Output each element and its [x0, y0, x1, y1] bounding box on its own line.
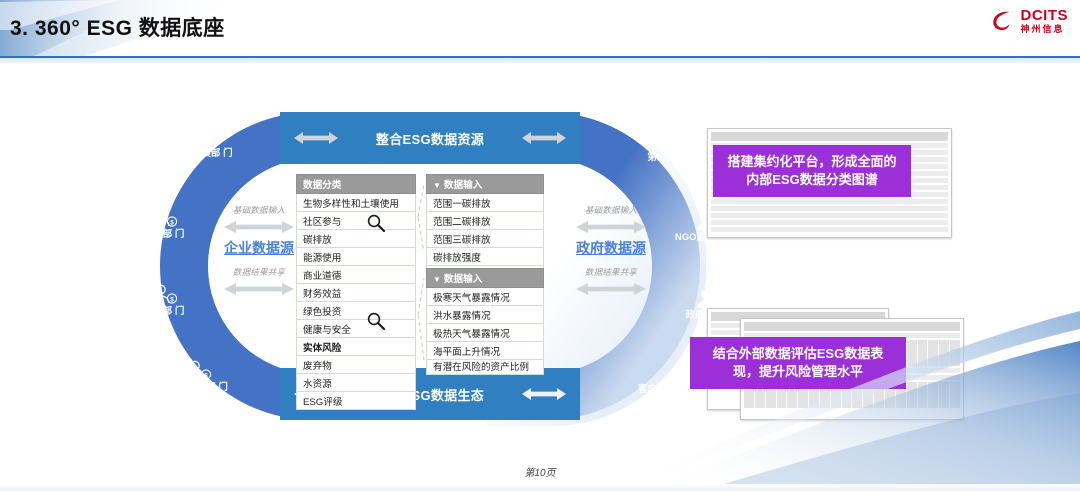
table-row: 极寒天气暴露情况: [427, 288, 544, 306]
person-icon: [693, 288, 719, 310]
node-sublabel: 门: [175, 306, 185, 317]
table-row: 范围三碳排放: [427, 230, 544, 248]
ghost-row: [711, 227, 948, 232]
dcits-swirl-icon: [990, 8, 1016, 34]
node-sublabel: 门: [223, 148, 233, 159]
slide: 3. 360° ESG 数据底座 DCITS 神州信息 整合ESG数据资源: [0, 0, 1080, 491]
person-icon: [669, 130, 695, 152]
node-sustainability-department: $ 可持续发展部 门: [152, 126, 244, 160]
callout-external-data-assessment: 结合外部数据评估ESG数据表现，提升风险管理水平: [690, 337, 906, 389]
page-title: 3. 360° ESG 数据底座: [10, 12, 225, 42]
table-row: 海平面上升情况: [427, 342, 544, 360]
ghost-row: [711, 213, 948, 218]
top-bar-integrate-resources: 整合ESG数据资源: [280, 112, 580, 164]
double-arrow-icon: [574, 282, 648, 296]
esg-data-foundation-diagram: 整合ESG数据资源 形成ESG数据生态 $ 可持续发展部 门: [160, 112, 700, 420]
double-arrow-icon: [222, 282, 296, 296]
ghost-row: [711, 199, 948, 204]
government-data-source-title: 政府数据源: [552, 238, 670, 258]
node-public-affairs-department: $ 公共事务部 门: [152, 360, 244, 394]
double-arrow-icon: [520, 130, 568, 146]
node-risk-department: $ 风险部 门: [118, 207, 210, 241]
table-row: 范围一碳排放: [427, 194, 544, 212]
government-data-source-group: 基础数据输入 政府数据源 数据结果共享: [552, 204, 670, 300]
header-divider-shadow: [0, 58, 1080, 65]
table-row: 极热天气暴露情况: [427, 324, 544, 342]
ghost-row: [711, 220, 948, 225]
double-arrow-icon: [520, 386, 568, 402]
classification-header: 数据分类: [297, 175, 416, 194]
caret-down-icon: ▼: [433, 181, 441, 190]
input-table-2-header: ▼数据输入: [427, 269, 544, 288]
node-sublabel: 门: [175, 229, 185, 240]
data-classification-table: 数据分类 生物多样性和土壤使用 社区参与 碳排放 能源使用 商业道德 财务效益 …: [296, 174, 416, 410]
table-row: 范围二碳排放: [427, 212, 544, 230]
table-row: 财务效益: [297, 284, 416, 302]
person-badge-icon: $: [149, 207, 179, 229]
table-row: 洪水暴露情况: [427, 306, 544, 324]
node-sublabel: 门: [218, 382, 228, 393]
ghost-header: [744, 322, 960, 331]
node-label: 可持续发展部: [163, 148, 220, 159]
table-row: 实体风险: [297, 338, 416, 356]
classification-rows: 生物多样性和土壤使用 社区参与 碳排放 能源使用 商业道德 财务效益 绿色投资 …: [297, 194, 416, 410]
government-input-note: 基础数据输入: [552, 204, 670, 216]
node-label: 公共事务部: [168, 382, 216, 393]
node-label: 投资部: [144, 306, 173, 317]
page-number: 第10页: [0, 464, 1080, 479]
brand-logo: DCITS 神州信息: [990, 8, 1069, 34]
ghost-row: [711, 206, 948, 211]
table-row: 水资源: [297, 374, 416, 392]
government-share-note: 数据结果共享: [552, 266, 670, 278]
table-row: 生物多样性和土壤使用: [297, 194, 416, 212]
logo-text-cn: 神州信息: [1021, 25, 1069, 34]
ghost-header: [711, 132, 948, 141]
person-badge-icon: $: [183, 360, 213, 382]
double-arrow-icon: [222, 220, 296, 234]
footer-bar: [0, 484, 1080, 491]
logo-text-en: DCITS: [1021, 8, 1069, 23]
table-row: 绿色投资: [297, 302, 416, 320]
table-row: 碳排放强度: [427, 248, 544, 266]
table-row: 商业道德: [297, 266, 416, 284]
table-row: 健康与安全: [297, 320, 416, 338]
table-row: 有潜在风险的资产比例: [427, 360, 544, 375]
node-investment-department: $ 投资部 门: [118, 284, 210, 318]
caret-down-icon: ▼: [433, 275, 441, 284]
person-badge-icon: $: [149, 284, 179, 306]
input-table-2-rows: 极寒天气暴露情况 洪水暴露情况 极热天气暴露情况 海平面上升情况 有潜在风险的资…: [427, 288, 544, 375]
top-bar-label: 整合ESG数据资源: [376, 129, 484, 148]
node-label: 风险部: [144, 229, 173, 240]
node-label: NGO监: [675, 232, 706, 243]
table-row: 碳排放: [297, 230, 416, 248]
table-row: ESG评级: [297, 392, 416, 410]
person-badge-icon: $: [183, 126, 213, 148]
table-row: 社区参与: [297, 212, 416, 230]
data-input-table-physical-risk: ▼数据输入 极寒天气暴露情况 洪水暴露情况 极热天气暴露情况 海平面上升情况 有…: [426, 268, 544, 375]
node-label: 第三方评级机: [647, 152, 704, 163]
callout-intensive-platform: 搭建集约化平台，形成全面的内部ESG数据分类图谱: [713, 145, 911, 197]
table-row: 能源使用: [297, 248, 416, 266]
table-row: 废弃物: [297, 356, 416, 374]
double-arrow-icon: [292, 130, 340, 146]
double-arrow-icon: [574, 220, 648, 234]
input-table-1-header: ▼数据输入: [427, 175, 544, 194]
